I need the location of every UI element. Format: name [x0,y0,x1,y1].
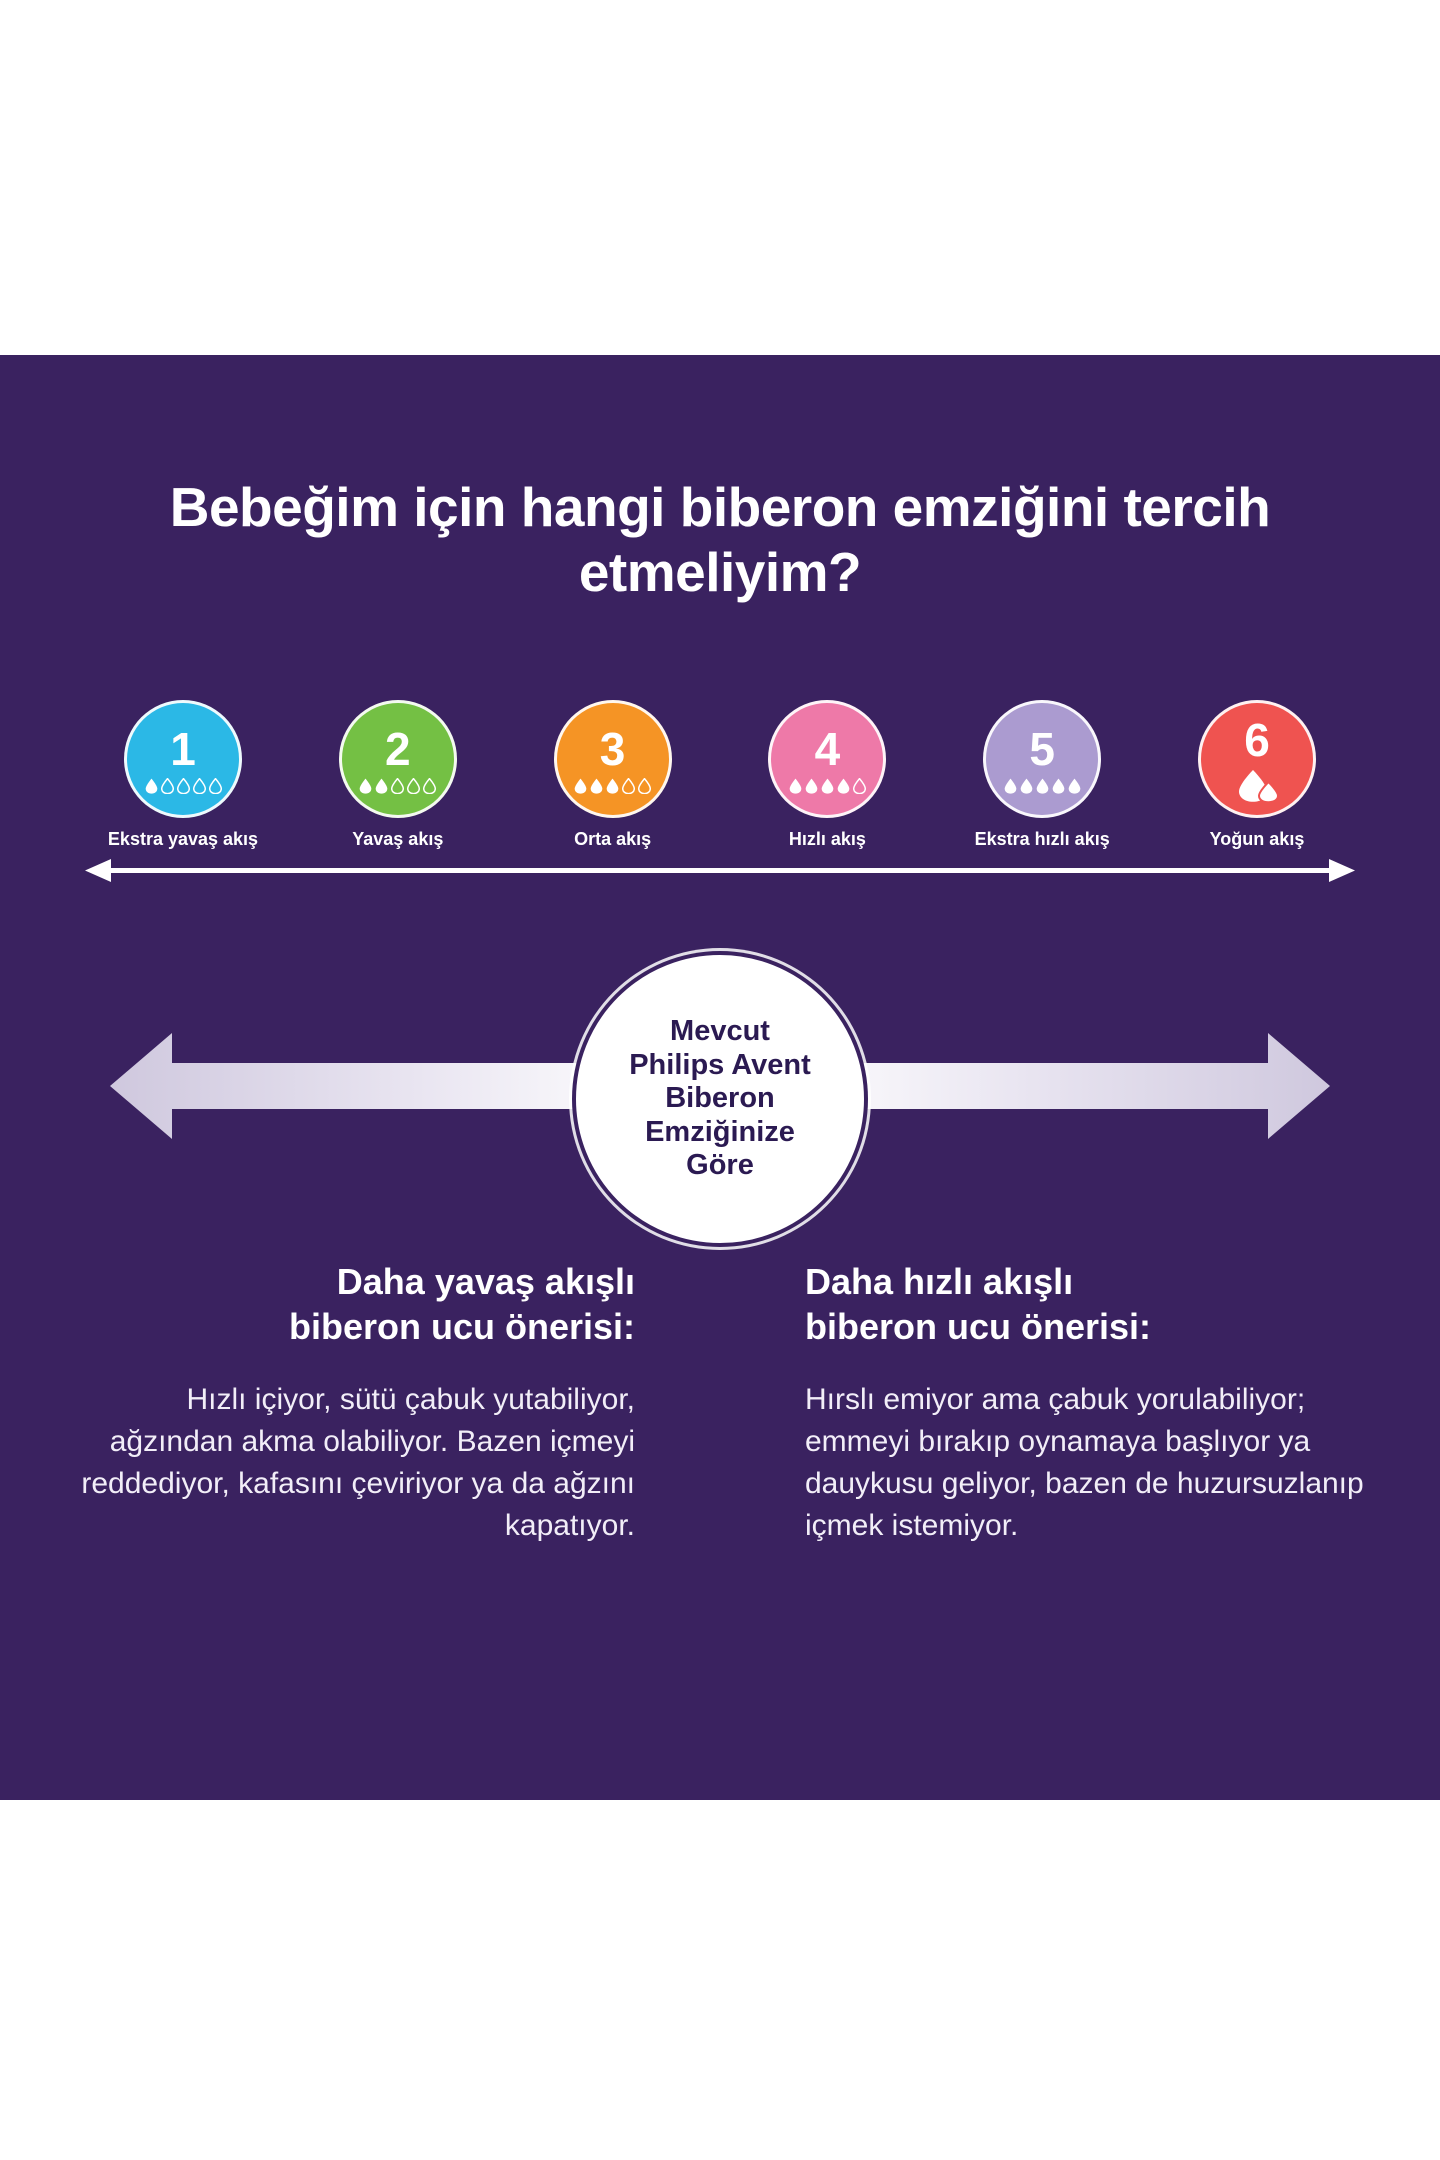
thick-flow-drops-icon [1234,769,1280,803]
water-drop-icon [359,778,372,794]
flow-level-label: Hızlı akış [789,829,866,850]
slower-flow-body: Hızlı içiyor, sütü çabuk yutabiliyor, ağ… [70,1379,635,1547]
flow-level-5[interactable]: 5Ekstra hızlı akış [944,700,1140,850]
current-teat-line-4: Emziğinize [645,1116,795,1148]
water-drop-icon-group [359,777,436,794]
faster-flow-heading-line2: biberon ucu önerisi: [805,1306,1151,1347]
flow-level-bubble-5[interactable]: 5 [983,700,1101,818]
page-title: Bebeğim için hangi biberon emziğini terc… [0,475,1440,605]
water-drop-icon [821,778,834,794]
water-drop-icon-group [1004,777,1081,794]
water-drop-icon [1036,778,1049,794]
infographic-panel: Bebeğim için hangi biberon emziğini terc… [0,355,1440,1800]
water-drop-icon-group [145,777,222,794]
current-teat-line-3: Biberon [665,1082,775,1114]
current-teat-line-2: Philips Avent [629,1049,811,1081]
flow-level-number: 5 [1029,728,1055,772]
flow-level-number: 4 [815,728,841,772]
flow-level-bubble-2[interactable]: 2 [339,700,457,818]
flow-scale-axis [85,858,1355,884]
flow-level-number: 6 [1244,719,1270,763]
slower-flow-column: Daha yavaş akışlı biberon ucu önerisi: H… [0,1260,720,1547]
water-drop-icon [789,778,802,794]
flow-level-2[interactable]: 2Yavaş akış [300,700,496,850]
faster-flow-heading-word3: akışlı [973,1261,1073,1302]
flow-level-bubble-4[interactable]: 4 [768,700,886,818]
current-teat-line-5: Göre [686,1149,754,1181]
flow-level-number: 1 [170,728,196,772]
faster-flow-heading-word1: Daha [805,1261,903,1302]
water-drop-icon [177,778,190,794]
slower-flow-heading: Daha yavaş akışlı biberon ucu önerisi: [70,1260,635,1349]
faster-flow-heading: Daha hızlı akışlı biberon ucu önerisi: [805,1260,1370,1349]
flow-level-label: Yoğun akış [1210,829,1305,850]
water-drop-icon-group [574,777,651,794]
water-drop-icon [193,778,206,794]
recommendation-columns: Daha yavaş akışlı biberon ucu önerisi: H… [0,1260,1440,1547]
water-drop-icon [407,778,420,794]
flow-level-bubble-3[interactable]: 3 [554,700,672,818]
current-teat-circle: MevcutPhilips AventBiberonEmziğinizeGöre [576,955,864,1243]
water-drop-icon [574,778,587,794]
flow-level-label: Ekstra yavaş akış [108,829,258,850]
water-drop-icon [423,778,436,794]
flow-level-number: 2 [385,728,411,772]
flow-scale-row: 1Ekstra yavaş akış2Yavaş akış3Orta akış4… [85,700,1355,850]
water-drop-icon [805,778,818,794]
flow-direction-band: MevcutPhilips AventBiberonEmziğinizeGöre [0,955,1440,1245]
slower-flow-heading-line1: Daha yavaş akışlı [337,1261,635,1302]
slower-flow-heading-line2: biberon ucu önerisi: [289,1306,635,1347]
water-drop-icon [622,778,635,794]
current-teat-label: MevcutPhilips AventBiberonEmziğinizeGöre [615,1015,825,1183]
water-drop-icon [837,778,850,794]
flow-level-bubble-1[interactable]: 1 [124,700,242,818]
water-drop-icon [853,778,866,794]
water-drop-icon [590,778,603,794]
water-drop-icon [638,778,651,794]
faster-flow-heading-word2: hızlı [903,1261,973,1302]
water-drop-icon [1004,778,1017,794]
water-drop-icon [606,778,619,794]
water-drop-icon [1020,778,1033,794]
flow-level-bubble-6[interactable]: 6 [1198,700,1316,818]
water-drop-icon-group [789,777,866,794]
faster-flow-body: Hırslı emiyor ama çabuk yorulabiliyor; e… [805,1379,1370,1547]
water-drop-icon [145,778,158,794]
flow-scale: 1Ekstra yavaş akış2Yavaş akış3Orta akış4… [85,700,1355,884]
flow-level-label: Yavaş akış [352,829,443,850]
flow-level-label: Ekstra hızlı akış [975,829,1110,850]
water-drop-icon [1068,778,1081,794]
water-drop-icon [391,778,404,794]
flow-level-4[interactable]: 4Hızlı akış [729,700,925,850]
flow-level-1[interactable]: 1Ekstra yavaş akış [85,700,281,850]
flow-level-6[interactable]: 6Yoğun akış [1159,700,1355,850]
current-teat-line-1: Mevcut [670,1015,770,1047]
faster-flow-column: Daha hızlı akışlı biberon ucu önerisi: H… [720,1260,1440,1547]
water-drop-icon [209,778,222,794]
flow-level-number: 3 [600,728,626,772]
water-drop-icon [161,778,174,794]
water-drop-icon [1052,778,1065,794]
flow-level-label: Orta akış [574,829,651,850]
flow-level-3[interactable]: 3Orta akış [515,700,711,850]
water-drop-icon [375,778,388,794]
